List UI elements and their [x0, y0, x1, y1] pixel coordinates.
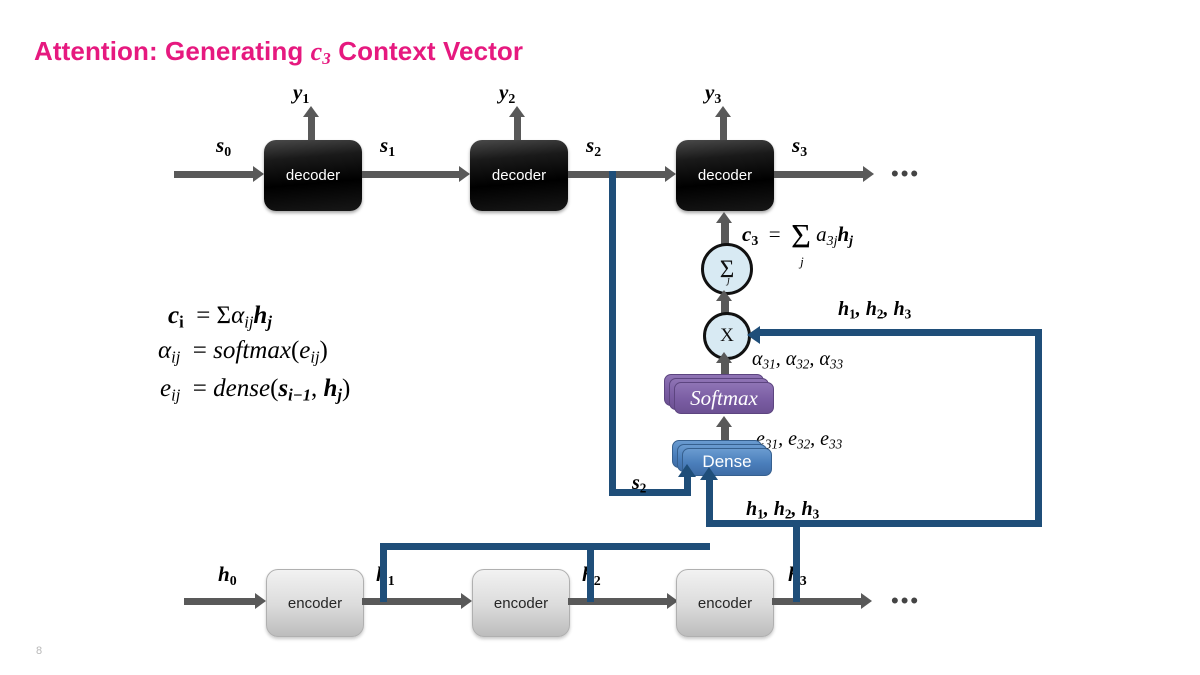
blue-tap-h2 [587, 543, 594, 602]
label-y1: y1 [293, 80, 309, 107]
arrow-c3-head [716, 212, 732, 223]
encoder-cell-1[interactable]: encoder [266, 569, 364, 637]
label-s1: s1 [380, 133, 395, 160]
arrow-h0-line [184, 598, 256, 605]
sum-node[interactable]: Σ j [701, 243, 753, 295]
decoder-cell-3[interactable]: decoder [676, 140, 774, 211]
arrow-s3-head [863, 166, 874, 182]
arrow-y1-head [303, 106, 319, 117]
formula-line-3: eij = dense(si−1, hj) [160, 375, 350, 406]
arrow-y2-line [514, 116, 521, 140]
arrow-s0-line [174, 171, 254, 178]
label-h0: h0 [218, 562, 237, 589]
arrow-y1-line [308, 116, 315, 140]
arrow-s2-line [568, 171, 666, 178]
page-number: 8 [36, 645, 42, 657]
arrow-h1-line [362, 598, 462, 605]
h-bus-label-top: h1, h2, h3 [838, 298, 911, 323]
arrow-softmax-mul-head [716, 352, 732, 363]
arrow-s1-head [459, 166, 470, 182]
encoder-row-continuation: ••• [891, 590, 920, 612]
arrow-h2-line [568, 598, 668, 605]
blue-h-bus-arrowhead-into-multiply [747, 326, 760, 344]
decoder-cell-1-label: decoder [286, 167, 340, 184]
arrow-s3-line [774, 171, 864, 178]
encoder-cell-2[interactable]: encoder [472, 569, 570, 637]
decoder-row-continuation: ••• [891, 163, 920, 185]
arrow-mul-sum-head [716, 290, 732, 301]
softmax-label: Softmax [690, 386, 758, 411]
arrow-dense-softmax-head [716, 416, 732, 427]
context-formula: c3 = Σ j a3jhj [742, 222, 853, 253]
blue-s2-horizontal [609, 489, 691, 496]
arrow-s2-head [665, 166, 676, 182]
encoder-cell-2-label: encoder [494, 595, 548, 612]
softmax-layer[interactable]: Softmax [664, 374, 780, 420]
slide-canvas: Attention: Generating c3 Context Vector … [0, 0, 1200, 675]
label-s2: s2 [586, 133, 601, 160]
label-s3: s3 [792, 133, 807, 160]
blue-bus-upper-left [380, 543, 710, 550]
blue-tap-h1 [380, 543, 387, 602]
multiply-node-symbol: X [720, 325, 734, 347]
blue-h-riser-into-dense [706, 479, 713, 524]
label-s0: s0 [216, 133, 231, 160]
formula-line-2: αij = softmax(eij) [158, 337, 328, 368]
blue-s2-arrowhead-into-dense [678, 464, 696, 477]
label-y2: y2 [499, 80, 515, 107]
arrow-s1-line [362, 171, 460, 178]
s2-feed-label: s2 [632, 472, 646, 497]
decoder-cell-1[interactable]: decoder [264, 140, 362, 211]
label-y3: y3 [705, 80, 721, 107]
encoder-cell-1-label: encoder [288, 595, 342, 612]
title-suffix: Context Vector [331, 36, 523, 66]
blue-h-arrowhead-into-dense [700, 467, 718, 480]
arrow-h1-head [461, 593, 472, 609]
arrow-y2-head [509, 106, 525, 117]
encoder-cell-3[interactable]: encoder [676, 569, 774, 637]
alpha-label: α31, α32, α33 [752, 348, 843, 373]
blue-h-bus-right-vertical [1035, 329, 1042, 527]
title-prefix: Attention: Generating [34, 36, 311, 66]
decoder-cell-2-label: decoder [492, 167, 546, 184]
blue-s2-vertical [609, 171, 616, 496]
arrow-y3-head [715, 106, 731, 117]
arrow-h3-head [861, 593, 872, 609]
blue-s2-riser [684, 475, 691, 496]
arrow-h3-line [772, 598, 862, 605]
decoder-cell-3-label: decoder [698, 167, 752, 184]
blue-h-bus-top-horizontal [760, 329, 1042, 336]
title-variable: c [311, 37, 323, 66]
page-title: Attention: Generating c3 Context Vector [34, 36, 523, 69]
sum-node-index: j [727, 274, 730, 286]
title-variable-subscript: 3 [322, 49, 331, 68]
softmax-face: Softmax [674, 382, 774, 414]
arrow-c3-line [721, 222, 729, 244]
arrow-h0-head [255, 593, 266, 609]
arrow-s0-head [253, 166, 264, 182]
arrow-y3-line [720, 116, 727, 140]
h-bus-label-bottom: h1, h2, h3 [746, 498, 819, 523]
decoder-cell-2[interactable]: decoder [470, 140, 568, 211]
encoder-cell-3-label: encoder [698, 595, 752, 612]
blue-tap-h3 [793, 520, 800, 602]
formula-line-1: ci = Σαijhj [168, 302, 272, 333]
